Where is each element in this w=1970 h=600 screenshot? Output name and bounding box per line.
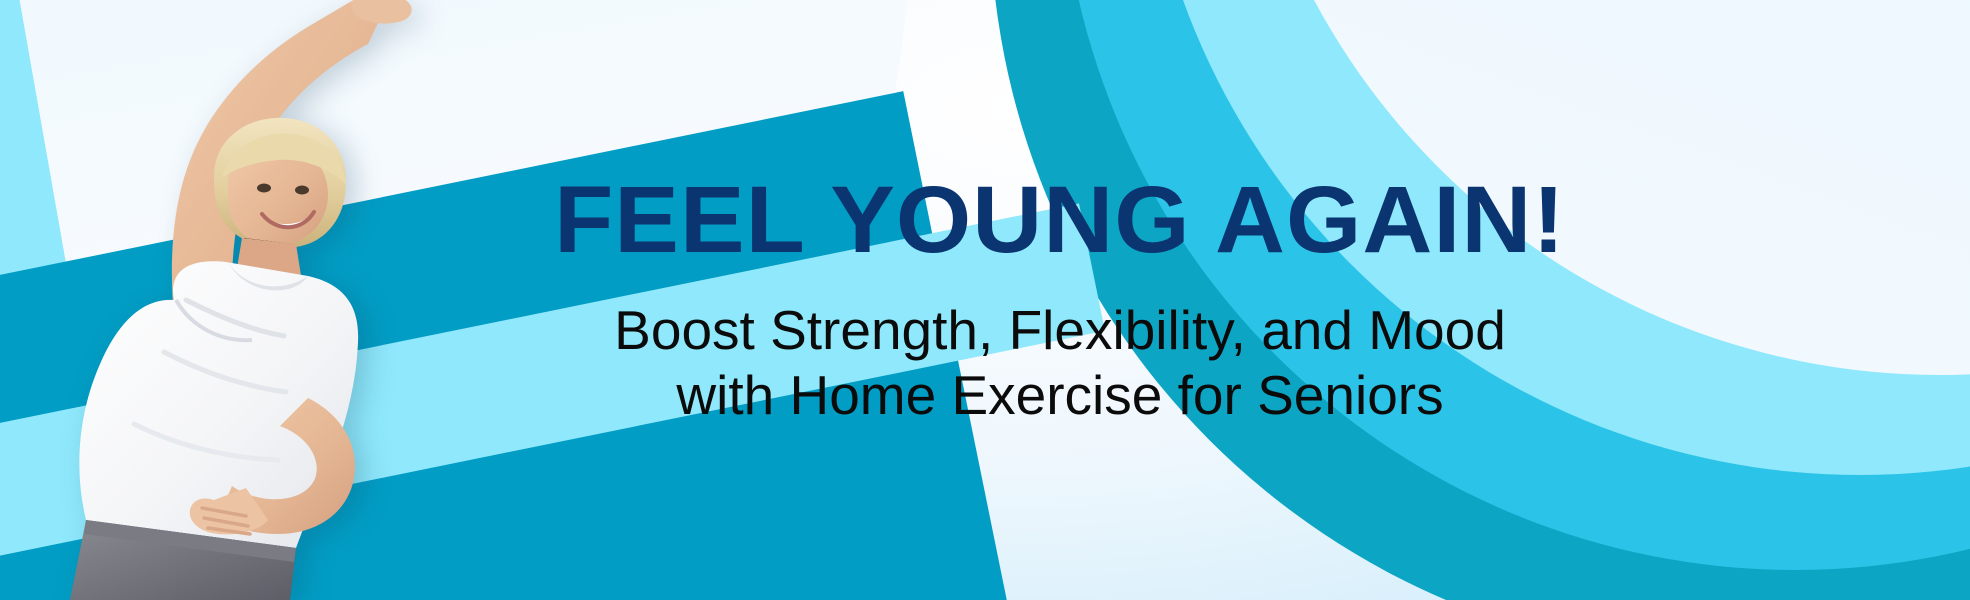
subtitle-line-2: with Home Exercise for Seniors — [614, 363, 1506, 428]
right-eye — [295, 186, 309, 195]
banner-text-block: FEEL YOUNG AGAIN! Boost Strength, Flexib… — [370, 0, 1750, 600]
left-eye — [257, 184, 271, 193]
page-title: FEEL YOUNG AGAIN! — [554, 173, 1566, 268]
promo-banner: FEEL YOUNG AGAIN! Boost Strength, Flexib… — [0, 0, 1970, 600]
subtitle-line-1: Boost Strength, Flexibility, and Mood — [614, 298, 1506, 363]
banner-subtitle: Boost Strength, Flexibility, and Mood wi… — [614, 298, 1506, 428]
